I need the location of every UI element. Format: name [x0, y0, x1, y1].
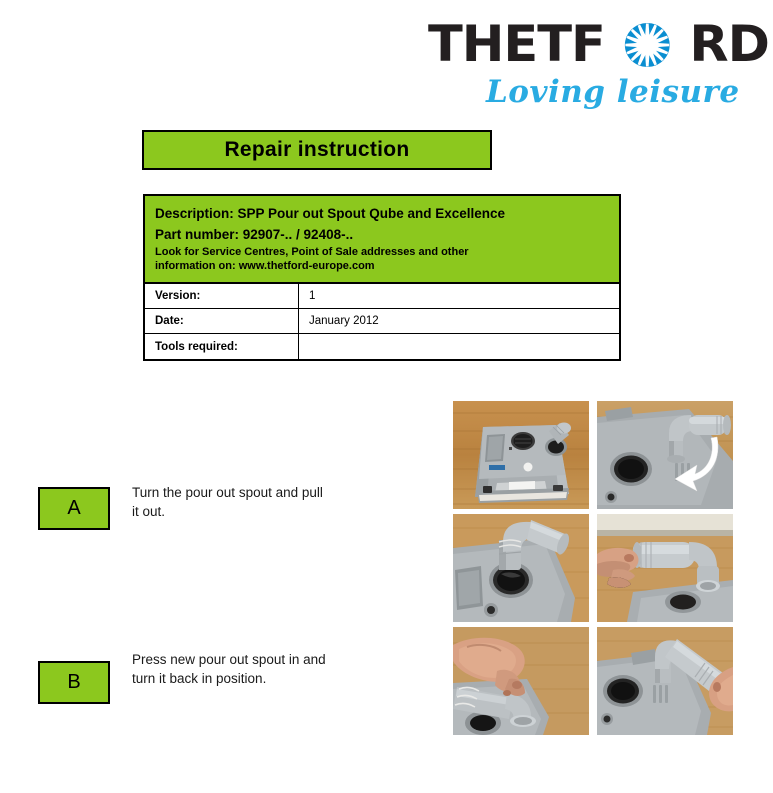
document-info-table: Description: SPP Pour out Spout Qube and… — [143, 194, 621, 361]
logo-tagline: Loving leisure — [486, 74, 740, 110]
row-value-version: 1 — [299, 284, 619, 308]
page-title: Repair instruction — [224, 138, 409, 162]
row-label-tools-required: Tools required: — [145, 334, 299, 359]
row-label-version: Version: — [145, 284, 299, 308]
step-badge-a: A — [38, 487, 110, 530]
photo-hand-pressing-spout-in — [453, 627, 589, 735]
row-value-tools-required — [299, 334, 619, 359]
table-row: Date: January 2012 — [145, 309, 619, 334]
instruction-photo-grid — [453, 401, 738, 738]
table-row: Tools required: — [145, 334, 619, 359]
row-value-date: January 2012 — [299, 309, 619, 333]
photo-spout-rotate-arrow — [597, 401, 733, 509]
description-text: Description: SPP Pour out Spout Qube and… — [155, 203, 609, 224]
logo-word-left: THETF — [428, 18, 605, 70]
photo-spout-turned-back — [597, 627, 733, 735]
photo-spout-upright — [453, 514, 589, 622]
thetford-logo: THETF — [428, 18, 748, 118]
info-table-header: Description: SPP Pour out Spout Qube and… — [145, 196, 619, 284]
step-description-b: Press new pour out spout in and turn it … — [132, 650, 332, 688]
logo-word-right: RD — [689, 18, 769, 70]
step-description-a: Turn the pour out spout and pull it out. — [132, 483, 332, 521]
row-label-date: Date: — [145, 309, 299, 333]
step-badge-a-label: A — [67, 497, 80, 520]
service-note-line-2: information on: www.thetford-europe.com — [155, 259, 609, 273]
page-title-banner: Repair instruction — [142, 130, 492, 170]
step-badge-b: B — [38, 661, 110, 704]
table-row: Version: 1 — [145, 284, 619, 309]
logo-wordmark: THETF — [428, 18, 754, 70]
service-note-line-1: Look for Service Centres, Point of Sale … — [155, 245, 609, 259]
step-badge-b-label: B — [67, 671, 80, 694]
part-number-text: Part number: 92907-.. / 92408-.. — [155, 224, 609, 245]
photo-hand-removing-spout — [597, 514, 733, 622]
photo-cassette-tank-overview — [453, 401, 589, 509]
sunburst-icon — [621, 18, 674, 70]
